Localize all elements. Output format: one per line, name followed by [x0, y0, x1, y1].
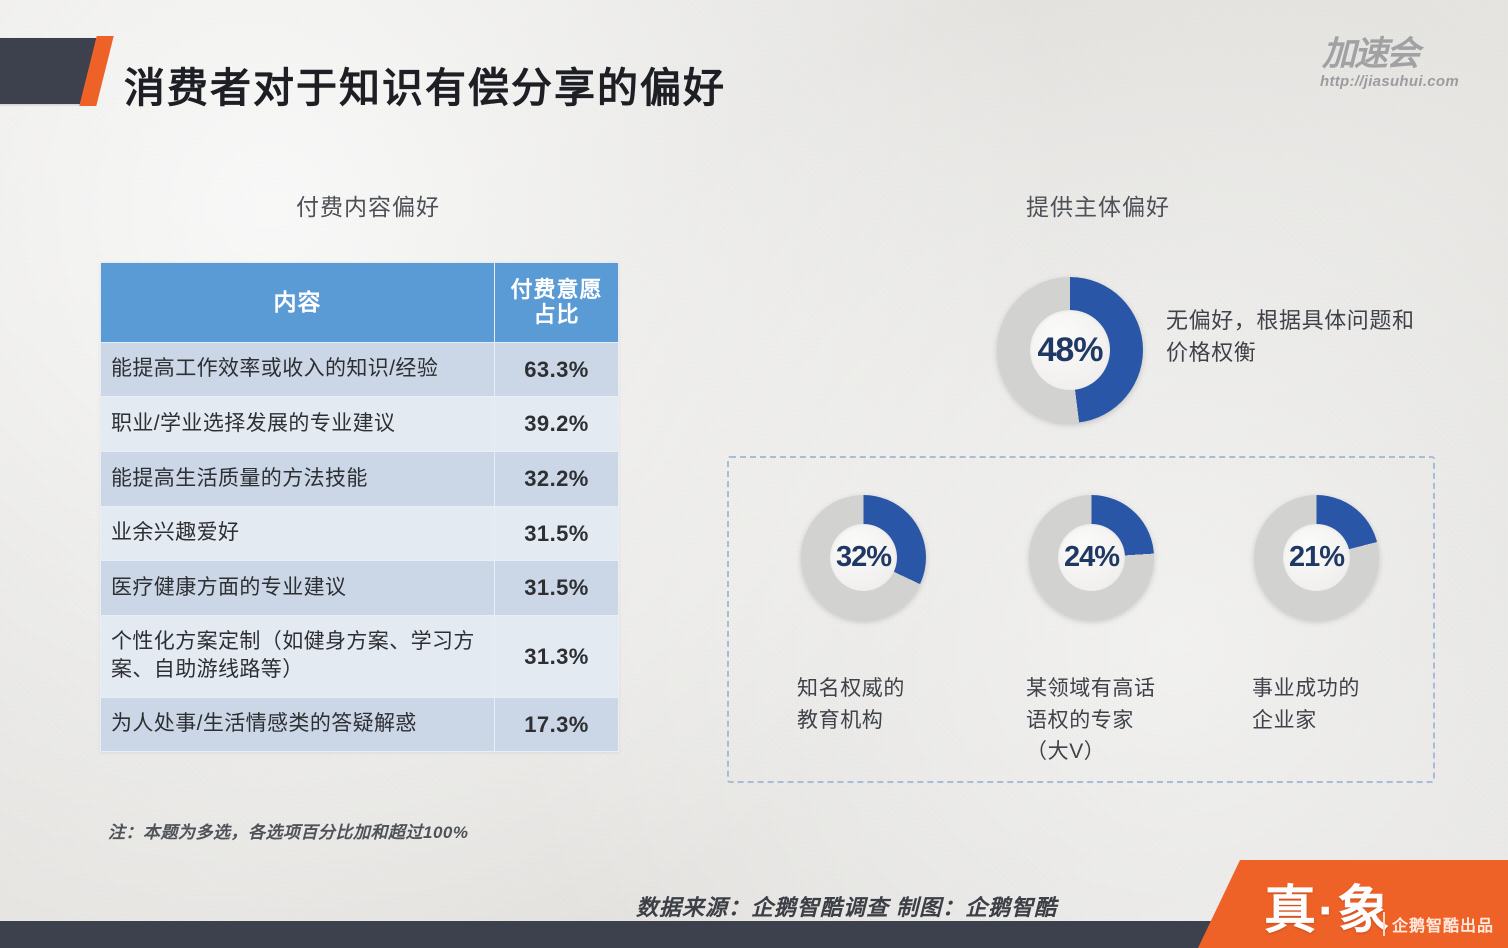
donut-chart-48: 48% — [997, 277, 1143, 423]
infographic-slide: 消费者对于知识有偿分享的偏好 加速会 http://jiasuhui.com 付… — [0, 0, 1508, 948]
watermark: 加速会 http://jiasuhui.com — [1314, 8, 1494, 104]
table-cell-content: 能提高生活质量的方法技能 — [101, 451, 495, 506]
donut-hole-24: 24% — [1058, 524, 1125, 591]
table-header-row: 内容 付费意愿 占比 — [101, 263, 619, 343]
section-caption-left: 付费内容偏好 — [296, 188, 440, 222]
brand-name: 真·象 — [1264, 868, 1391, 943]
donut-chart-21: 21% — [1254, 495, 1379, 620]
donut-caption-24-line2: 语权的专家 — [1026, 705, 1206, 737]
donut-hole-48: 48% — [1030, 310, 1110, 390]
donut-value-32: 32% — [836, 543, 891, 572]
table-cell-content: 职业/学业选择发展的专业建议 — [101, 397, 495, 452]
table-row: 能提高生活质量的方法技能32.2% — [101, 451, 619, 506]
table-cell-value: 63.3% — [495, 342, 619, 397]
table-cell-value: 31.5% — [495, 506, 619, 561]
table-cell-content: 医疗健康方面的专业建议 — [101, 561, 495, 616]
table-note: 注：本题为多选，各选项百分比加和超过100% — [108, 818, 468, 843]
footer-bar — [0, 921, 1235, 948]
table-cell-content: 能提高工作效率或收入的知识/经验 — [101, 342, 495, 397]
donut-caption-21: 事业成功的 企业家 — [1252, 673, 1432, 736]
watermark-logo-icon: 加速会 — [1322, 26, 1418, 75]
table-cell-content: 业余兴趣爱好 — [101, 506, 495, 561]
donut-caption-32-line2: 教育机构 — [797, 705, 977, 737]
table-row: 医疗健康方面的专业建议31.5% — [101, 561, 619, 616]
donut-caption-24-line3: （大V） — [1026, 736, 1206, 768]
content-preference-table: 内容 付费意愿 占比 能提高工作效率或收入的知识/经验63.3%职业/学业选择发… — [100, 262, 619, 752]
donut-chart-24: 24% — [1029, 495, 1154, 620]
table-cell-value: 17.3% — [495, 697, 619, 752]
table-header-content: 内容 — [101, 263, 495, 343]
table-header-share: 付费意愿 占比 — [495, 263, 619, 343]
page-title: 消费者对于知识有偿分享的偏好 — [124, 54, 726, 114]
donut-caption-24-line1: 某领域有高话 — [1026, 673, 1206, 705]
brand-badge: 真·象 企鹅智酷出品 — [1198, 860, 1508, 948]
table-row: 业余兴趣爱好31.5% — [101, 506, 619, 561]
table-row: 职业/学业选择发展的专业建议39.2% — [101, 397, 619, 452]
section-caption-right: 提供主体偏好 — [1026, 188, 1170, 222]
table-row: 能提高工作效率或收入的知识/经验63.3% — [101, 342, 619, 397]
donut-caption-24: 某领域有高话 语权的专家 （大V） — [1026, 673, 1206, 768]
donut-hole-21: 21% — [1283, 524, 1350, 591]
donut-caption-32-line1: 知名权威的 — [797, 673, 977, 705]
watermark-url: http://jiasuhui.com — [1320, 73, 1459, 90]
donut-hole-32: 32% — [830, 524, 897, 591]
table-cell-value: 31.3% — [495, 616, 619, 698]
brand-tagline: 企鹅智酷出品 — [1383, 912, 1494, 936]
donut-chart-32: 32% — [801, 495, 926, 620]
table-cell-value: 39.2% — [495, 397, 619, 452]
table-header-share-line1: 付费意愿 — [510, 277, 602, 302]
donut-value-21: 21% — [1289, 543, 1344, 572]
table-cell-content: 个性化方案定制（如健身方案、学习方案、自助游线路等） — [101, 616, 495, 698]
donut-caption-32: 知名权威的 教育机构 — [797, 673, 977, 736]
data-source-text: 数据来源：企鹅智酷调查 制图：企鹅智酷 — [636, 890, 1057, 922]
table-cell-value: 31.5% — [495, 561, 619, 616]
donut-caption-21-line1: 事业成功的 — [1252, 673, 1432, 705]
table-cell-value: 32.2% — [495, 451, 619, 506]
table-header-share-line2: 占比 — [533, 302, 579, 327]
watermark-logo-text: 加速会 — [1322, 35, 1418, 73]
donut-caption-48: 无偏好，根据具体问题和价格权衡 — [1166, 305, 1416, 369]
donut-value-48: 48% — [1037, 333, 1102, 367]
donut-value-24: 24% — [1064, 543, 1119, 572]
table-row: 为人处事/生活情感类的答疑解惑17.3% — [101, 697, 619, 752]
table-cell-content: 为人处事/生活情感类的答疑解惑 — [101, 697, 495, 752]
table-row: 个性化方案定制（如健身方案、学习方案、自助游线路等）31.3% — [101, 616, 619, 698]
donut-caption-21-line2: 企业家 — [1252, 705, 1432, 737]
